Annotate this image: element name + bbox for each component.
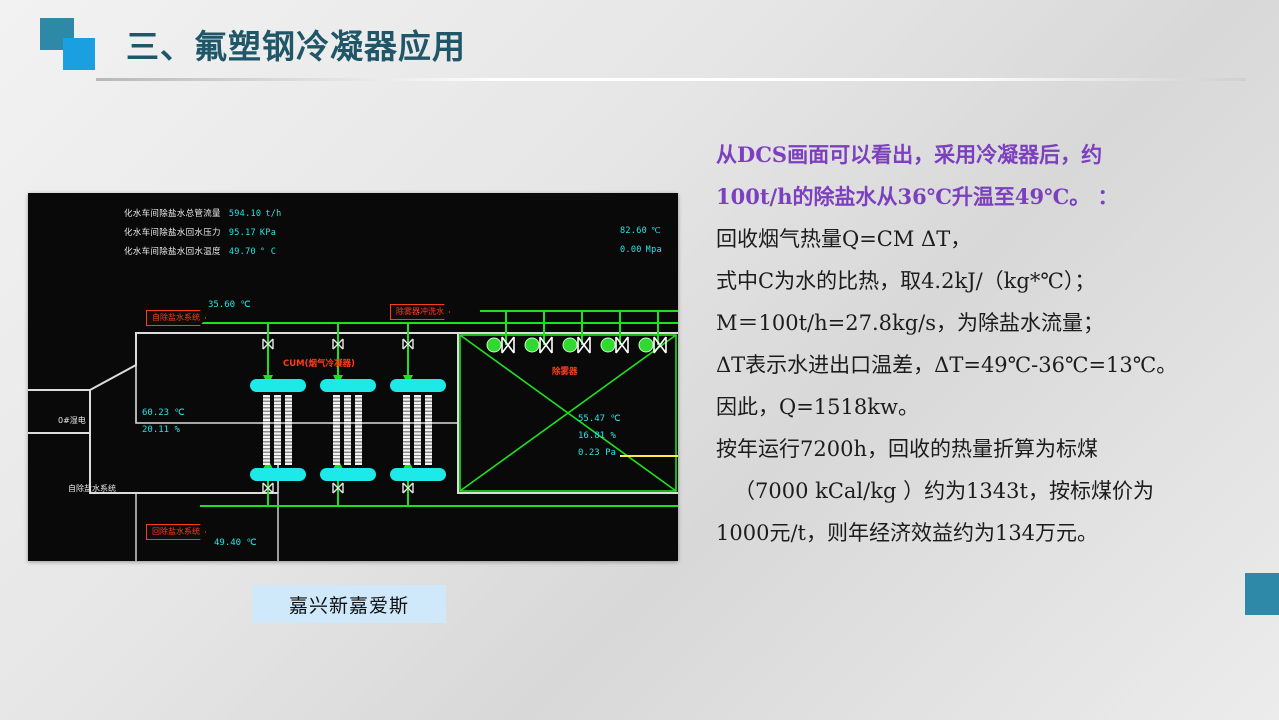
text-line: 因此，Q=1518kw。 [716,386,1268,428]
reading-unit: Mpa [646,245,662,255]
reading-unit: KPa [260,228,276,238]
reading-label: 化水车间除盐水总管流量 [124,209,221,219]
text-line: 100t/h的除盐水从36℃升温至49℃。 ： [716,176,1268,218]
dcs-reading-row: 82.60℃ [620,226,661,236]
value-left-temperature: 60.23 ℃ [142,408,185,418]
dcs-reading-row: 化水车间除盐水回水温度49.70° C [124,245,276,257]
text-line: 从DCS画面可以看出，采用冷凝器后，约 [716,134,1268,176]
label-left-system: 自除盐水系统 [68,483,116,494]
bundle-header-bottom [390,468,446,481]
page-title: 三、氟塑钢冷凝器应用 [126,20,466,68]
tag-demister-wash-water: 除雾器冲洗水 [390,304,450,320]
header-divider [96,78,1246,81]
reading-value: 594.10 [229,209,262,219]
label-demister: 除雾器 [552,365,578,377]
reading-value: 0.00 [620,245,642,255]
tube-bundle [250,379,306,481]
tube-bundle [390,379,446,481]
text-line: 回收烟气热量Q=CM ΔT， [716,218,1268,260]
body-text-block: 从DCS画面可以看出，采用冷凝器后，约 100t/h的除盐水从36℃升温至49℃… [716,134,1268,554]
text-line: 式中C为水的比热，取4.2kJ/（kg*℃）； [716,260,1268,302]
bundle-tubes [403,395,432,465]
value-inlet-temperature: 35.60 ℃ [208,300,251,310]
tube-bundle [320,379,376,481]
label-wet-esp: 0#湿电 [58,415,86,426]
text-line: （7000 kCal/kg ）约为1343t，按标煤价为 [716,470,1268,512]
bundle-tubes [333,395,362,465]
reading-unit: ℃ [651,226,661,236]
image-caption: 嘉兴新嘉爱斯 [252,585,446,623]
value-right-temperature: 55.47 ℃ [578,414,621,424]
reading-value: 82.60 [620,226,647,236]
reading-unit: ° C [260,247,276,257]
value-outlet-temperature: 49.40 ℃ [214,538,257,548]
value-right-pressure: 0.23 Pa [578,448,616,458]
valve-bank [487,337,666,353]
dcs-reading-row: 化水车间除盐水回水压力95.17KPa [124,226,276,238]
dcs-reading-row: 0.00Mpa [620,245,662,255]
text-line: 1000元/t，则年经济效益约为134万元。 [716,512,1268,554]
reading-value: 95.17 [229,228,256,238]
bundle-tubes [263,395,292,465]
text-line: 按年运行7200h，回收的热量折算为标煤 [716,428,1268,470]
decoration-square-light [63,38,95,70]
bundle-header-bottom [250,468,306,481]
tag-inlet-desalted-water: 自除盐水系统 [146,310,206,326]
bundle-header-top [390,379,446,392]
tag-outlet-desalted-water: 回除盐水系统 [146,524,206,540]
dcs-screen-image: 化水车间除盐水总管流量594.10t/h 化水车间除盐水回水压力95.17KPa… [28,193,678,561]
text-line: M＝100t/h=27.8kg/s，为除盐水流量； [716,302,1268,344]
text-line: ΔT表示水进出口温差，ΔT=49℃-36℃=13℃。 [716,344,1268,386]
bundle-header-top [250,379,306,392]
reading-label: 化水车间除盐水回水温度 [124,247,221,257]
label-condenser: CUM(烟气冷凝器) [283,357,355,369]
corner-accent-block [1245,573,1279,615]
slide-root: 三、氟塑钢冷凝器应用 从DCS画面可以看出，采用冷凝器后，约 100t/h的除盐… [0,0,1279,720]
bundle-header-bottom [320,468,376,481]
dcs-reading-row: 化水车间除盐水总管流量594.10t/h [124,207,282,219]
yellow-indicator-line [620,455,678,457]
bundle-header-top [320,379,376,392]
reading-value: 49.70 [229,247,256,257]
reading-label: 化水车间除盐水回水压力 [124,228,221,238]
value-right-oxygen: 16.81 % [578,431,616,441]
value-left-oxygen: 20.11 % [142,425,180,435]
reading-unit: t/h [265,209,281,219]
